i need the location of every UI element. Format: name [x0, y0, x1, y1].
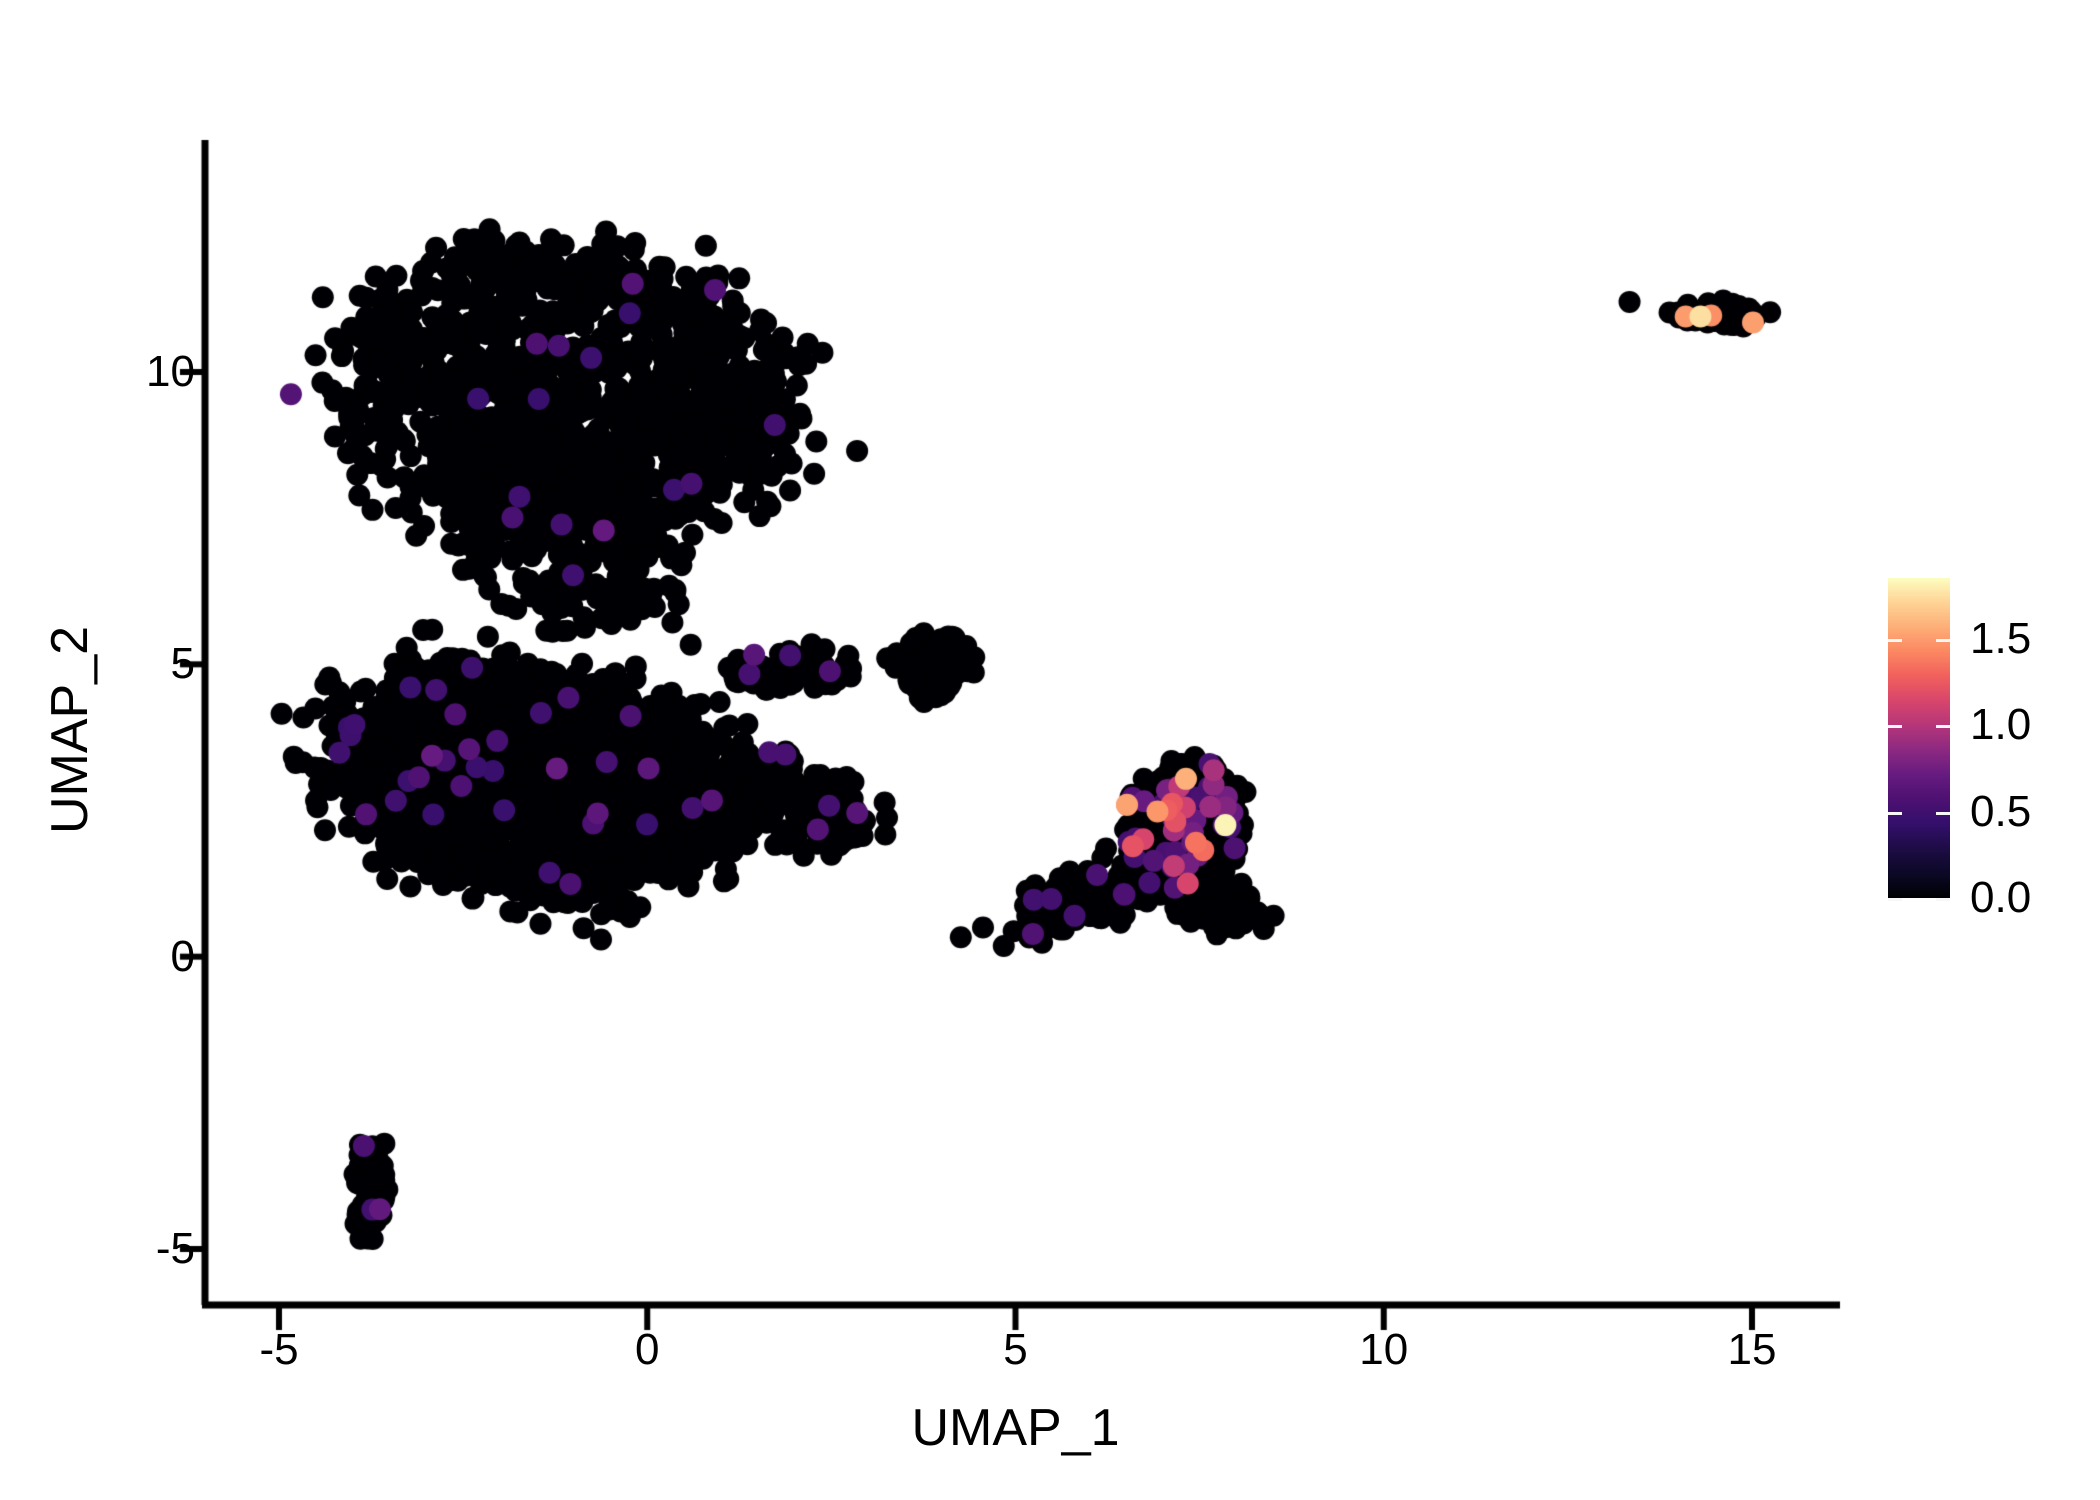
colorbar-tick-mark [1936, 898, 1950, 901]
colorbar-tick-mark [1888, 812, 1902, 815]
x-axis-label: UMAP_1 [279, 1398, 1752, 1458]
colorbar-tick-label: 1.0 [1970, 700, 2031, 750]
colorbar-tick-mark [1888, 725, 1902, 728]
colorbar-tick-label: 0.0 [1970, 873, 2031, 923]
colorbar-tick-mark [1936, 725, 1950, 728]
y-tick-label: 5 [171, 639, 195, 689]
colorbar-tick-label: 1.5 [1970, 614, 2031, 664]
x-tick-label: 0 [635, 1325, 659, 1375]
x-tick-label: 10 [1359, 1325, 1408, 1375]
x-tick-label: -5 [259, 1325, 298, 1375]
x-tick-label: 5 [1003, 1325, 1027, 1375]
colorbar-gradient [1888, 578, 1950, 898]
scatter-plot-canvas [0, 0, 2100, 1500]
y-axis-label: UMAP_2 [40, 280, 100, 1180]
x-tick-label: 15 [1728, 1325, 1777, 1375]
feature-plot-figure: RASD1 -5051015-50510 UMAP_1 UMAP_2 1.51.… [0, 0, 2100, 1500]
colorbar-tick-mark [1936, 639, 1950, 642]
y-tick-label: 0 [171, 932, 195, 982]
colorbar-tick-label: 0.5 [1970, 787, 2031, 837]
y-tick-label: -5 [156, 1224, 195, 1274]
y-tick-label: 10 [146, 347, 195, 397]
colorbar-tick-mark [1936, 812, 1950, 815]
colorbar-tick-mark [1888, 898, 1902, 901]
colorbar-tick-mark [1888, 639, 1902, 642]
color-legend: 1.51.00.50.0 [1888, 578, 1950, 898]
